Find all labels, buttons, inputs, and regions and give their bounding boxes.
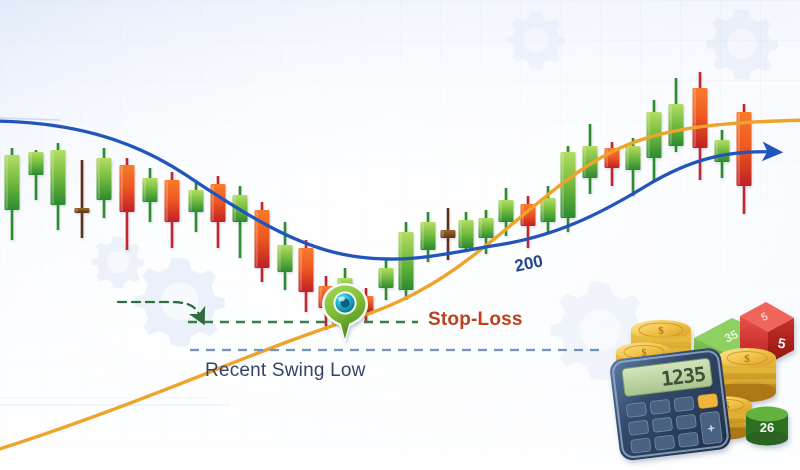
coin-stack-right: $ — [718, 348, 776, 402]
money-and-calculator-graphic: $ $ — [609, 302, 794, 462]
calculator-icon: 1235 + — [609, 347, 733, 462]
recent-swing-low-label: Recent Swing Low — [205, 360, 366, 382]
green-token-26: 26 — [746, 407, 788, 446]
trading-chart-illustration: $ $ — [0, 0, 800, 470]
svg-text:26: 26 — [760, 420, 774, 435]
stop-loss-label: Stop-Loss — [428, 309, 523, 331]
svg-text:$: $ — [744, 353, 750, 365]
svg-text:$: $ — [658, 325, 664, 337]
money-illustration-layer: $ $ — [0, 0, 800, 470]
